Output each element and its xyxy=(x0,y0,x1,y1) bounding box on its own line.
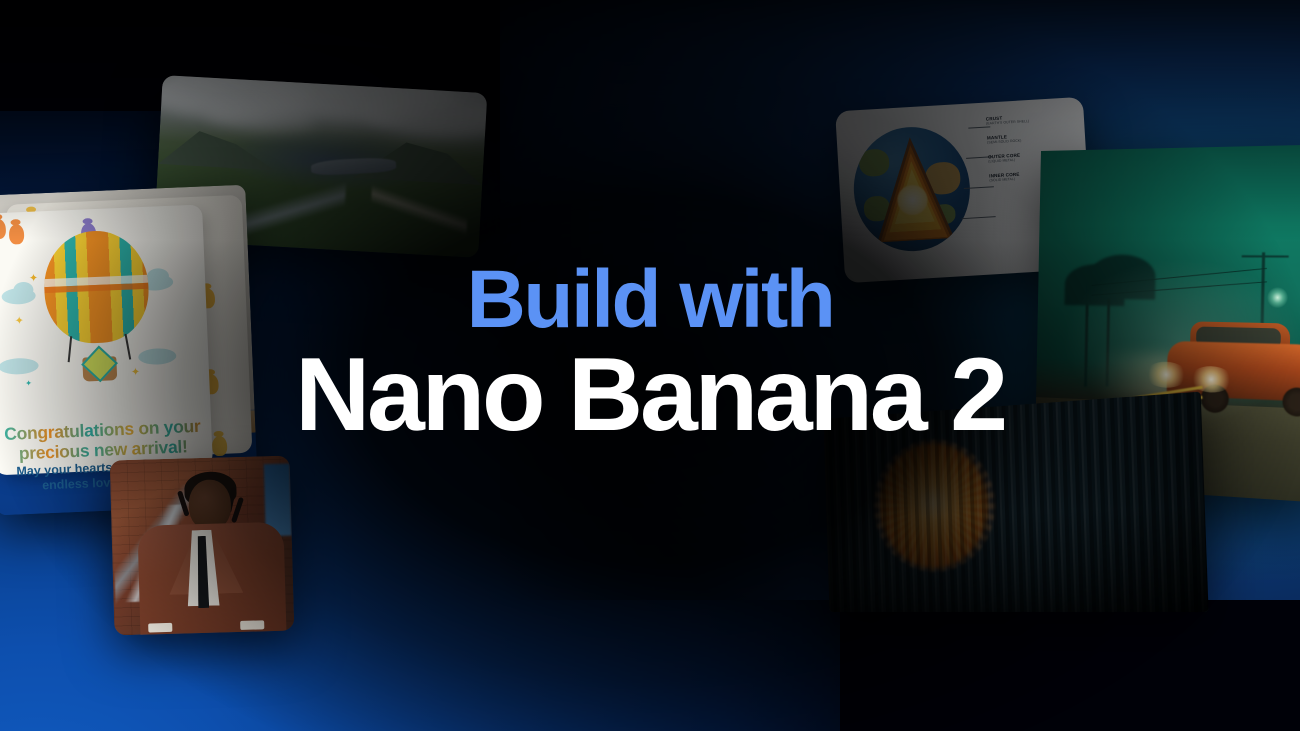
headline-line-2: Nano Banana 2 xyxy=(0,343,1300,447)
background-top-fade xyxy=(0,0,1300,240)
headline-line-1: Build with xyxy=(0,262,1300,337)
promo-hero-stage: CRUST (EARTH'S OUTER SHELL) MANTLE (SEMI… xyxy=(0,0,1300,731)
hero-headline: Build with Nano Banana 2 xyxy=(0,262,1300,447)
